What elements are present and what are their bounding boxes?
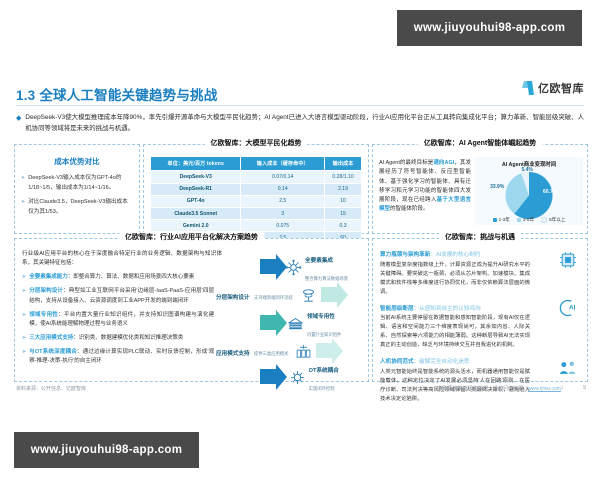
platform-flow-diagram: 全要素集成 整合算力算法数据场景 分层架构设计 支持端到端闭环流程 bbox=[216, 253, 366, 377]
challenge-title-1: 算力瓶颈与架构革新 bbox=[380, 252, 430, 258]
cell-input: 0.14 bbox=[241, 183, 325, 195]
agent-text-end: 的智能体阶段。 bbox=[390, 206, 429, 212]
challenge-heading-2: 智能层级断层：从感知到自主的认知鸿沟 bbox=[380, 304, 580, 312]
brand-logo: 亿欧智库 bbox=[523, 80, 584, 96]
challenge-title-2: 智能层级断层 bbox=[380, 306, 414, 312]
watermark-top: www.jiuyouhui98-app.com bbox=[397, 10, 582, 46]
cost-item-list: ➤ DeepSeek-V3输入成本仅为GPT-4o的1/18~1/5，输出成本为… bbox=[21, 174, 133, 217]
pie-label-1-3y: 60.7% bbox=[543, 189, 557, 195]
cell-output: 15 bbox=[325, 207, 362, 219]
challenge-body-1: 随着模型复杂度指数级上升，计算资源正成为提升AI研究水平的关键障碍。要突破这一瓶… bbox=[380, 261, 530, 297]
people-icon bbox=[558, 358, 578, 378]
table-row: GPT-4o 2.5 10 bbox=[151, 195, 362, 207]
ai-brain-icon: AI bbox=[558, 298, 578, 318]
flow-label-4: 应用模式支持 bbox=[216, 351, 250, 357]
challenge-heading-3: 人机协同范式：破解完全自动化迷思 bbox=[380, 357, 580, 365]
challenge-body-2: 当前AI系统主要停留在数据智能和感知智能阶段，现有AI仅在逻辑、语言和空间能力三… bbox=[380, 314, 530, 350]
cell-output: 2.19 bbox=[325, 183, 362, 195]
gear-network-icon bbox=[285, 259, 302, 276]
table-row: Claude3.5 Sonnet 3 15 bbox=[151, 207, 362, 219]
legend-label: 1-3年 bbox=[499, 217, 510, 223]
page-number: 9 bbox=[583, 385, 586, 391]
cell-input: 2.5 bbox=[241, 195, 325, 207]
arrow-icon: ➤ bbox=[21, 174, 25, 193]
flow-chevron-1 bbox=[260, 254, 281, 280]
cost-comparison-panel: 成本优势对比 ➤ DeepSeek-V3输入成本仅为GPT-4o的1/18~1/… bbox=[14, 144, 140, 234]
column-header-output-cost: 输出成本 bbox=[325, 157, 362, 171]
arrow-icon: ➤ bbox=[22, 348, 26, 367]
flow-label-2: 分层架构设计 bbox=[216, 295, 250, 301]
arrow-icon: ➤ bbox=[22, 334, 26, 343]
table-row: DeepSeek-R1 0.14 2.19 bbox=[151, 183, 362, 195]
footer-note: 获取更多维度报告数据，请访问亿欧网（www.iyiou.com） bbox=[438, 385, 566, 392]
header-divider bbox=[16, 105, 584, 106]
challenges-panel: 亿欧智库：挑战与机遇 算力瓶颈与架构革新：AI发展的核心制约 随着模型复杂度指数… bbox=[372, 238, 588, 382]
ai-agent-description: AI Agent的最终目标是通向AGI，其发展经历了符号智能体、反应型智能体、基… bbox=[373, 156, 475, 228]
ai-agent-caption: 亿欧智库：AI Agent智能体崛起趋势 bbox=[418, 138, 543, 148]
cost-heading: 成本优势对比 bbox=[15, 156, 139, 167]
ai-agent-panel: 亿欧智库：AI Agent智能体崛起趋势 AI Agent的最终目标是通向AGI… bbox=[372, 144, 588, 234]
agent-text-pre: AI Agent的最终目标是 bbox=[379, 160, 433, 166]
flow-chevron-3 bbox=[260, 310, 283, 336]
pie-chart-legend: 1-3年 3-5年 5年以上 bbox=[475, 217, 583, 223]
platform-item-title: 领域专用性 bbox=[29, 312, 58, 318]
legend-item-1-3y: 1-3年 bbox=[493, 217, 510, 223]
flow-label-1: 全要素集成 bbox=[305, 258, 333, 264]
challenge-title-3: 人机协同范式 bbox=[380, 359, 414, 365]
platform-item-desc: ：即整合算力、算法、数据和应用场景四大核心要素 bbox=[68, 274, 195, 280]
apps-icon bbox=[295, 343, 312, 360]
pie-label-5y-plus: 5.4% bbox=[521, 167, 532, 173]
agent-text-highlight-1: 通向AGI bbox=[433, 160, 454, 166]
cell-output: 0.28/1.10 bbox=[325, 171, 362, 183]
pricing-table-caption: 亿欧智库：大模型平民化趋势 bbox=[205, 138, 308, 148]
ot-icon bbox=[289, 369, 306, 386]
cell-output: 0.3 bbox=[325, 220, 362, 232]
brand-logo-label: 亿欧智库 bbox=[538, 80, 584, 96]
platform-item-title: 三大应用模式支持 bbox=[29, 335, 73, 341]
platform-item-desc: ：识别类、数据建模优化类和知识推理决策类 bbox=[73, 335, 183, 341]
cell-output: 10 bbox=[325, 195, 362, 207]
legend-label: 5年以上 bbox=[549, 217, 565, 223]
column-header-unit: 单位：美元/百万 tokens bbox=[151, 157, 241, 171]
cell-input: 0.07/0.14 bbox=[241, 171, 325, 183]
table-row: DeepSeek-V3 0.07/0.14 0.28/1.10 bbox=[151, 171, 362, 183]
yiou-logo-icon bbox=[523, 81, 536, 95]
arrow-icon: ➤ bbox=[22, 287, 26, 306]
platform-item-title: 全要素集成能力 bbox=[29, 274, 68, 280]
footer-source: 资料来源：公开信息、亿欧智库 bbox=[16, 385, 86, 392]
challenge-subtitle-1: ：AI发展的核心制约 bbox=[430, 252, 480, 258]
platform-item-title: 与OT系统深度耦合 bbox=[29, 349, 77, 355]
arrow-icon: ➤ bbox=[22, 273, 26, 282]
slide-content: 1.3 全球人工智能关键趋势与挑战 亿欧智库 ◆ DeepSeek-V3使大模型… bbox=[0, 60, 600, 390]
legend-item-3-5y: 3-5年 bbox=[517, 217, 534, 223]
knowledge-icon bbox=[287, 315, 304, 332]
challenge-heading-1: 算力瓶颈与架构革新：AI发展的核心制约 bbox=[380, 250, 580, 258]
legend-label: 3-5年 bbox=[523, 217, 534, 223]
cell-model: DeepSeek-R1 bbox=[151, 183, 241, 195]
layers-icon bbox=[300, 287, 317, 304]
flow-sublabel-2: 支持端到端闭环流程 bbox=[254, 295, 293, 300]
challenge-subtitle-2: ：从感知到自主的认知鸿沟 bbox=[414, 306, 481, 312]
pie-label-3-5y: 33.9% bbox=[490, 184, 504, 190]
cell-input: 3 bbox=[241, 207, 325, 219]
cell-model: Gemini 2.0 bbox=[151, 220, 241, 232]
list-item: ➤ DeepSeek-V3输入成本仅为GPT-4o的1/18~1/5，输出成本为… bbox=[21, 174, 133, 193]
footer-note-post: ） bbox=[561, 386, 566, 392]
legend-item-5y-plus: 5年以上 bbox=[541, 217, 565, 223]
page-header: 1.3 全球人工智能关键趋势与挑战 bbox=[16, 84, 584, 104]
page-title: 1.3 全球人工智能关键趋势与挑战 bbox=[16, 84, 584, 104]
cell-model: DeepSeek-V3 bbox=[151, 171, 241, 183]
list-item: ➤ 对比Claude3.5，DeepSeek-V3输出成本仅为其1/53。 bbox=[21, 198, 133, 217]
footer-note-pre: 获取更多维度报告数据，请访问亿欧网（ bbox=[438, 386, 528, 392]
flow-sublabel-4: 提供三类应用模式 bbox=[254, 351, 288, 356]
legend-swatch-icon bbox=[541, 217, 547, 223]
bullet-diamond-icon: ◆ bbox=[16, 112, 21, 134]
pie-chart-graphic bbox=[506, 172, 553, 219]
legend-swatch-icon bbox=[517, 218, 521, 222]
watermark-bottom: www.jiuyouhui98-app.com bbox=[14, 432, 199, 468]
column-header-input-cost: 输入成本（缓存命中） bbox=[241, 157, 325, 171]
monetization-pie-chart: AI Agent商业变现时间 60.7% 33.9% 5.4% 1-3年 3-5… bbox=[475, 157, 583, 225]
cell-input: 0.075 bbox=[241, 220, 325, 232]
challenges-panel-caption: 亿欧智库：挑战与机遇 bbox=[439, 232, 521, 242]
platform-panel-caption: 亿欧智库：行业AI应用平台化解决方案趋势 bbox=[119, 232, 264, 242]
table-row: Gemini 2.0 0.075 0.3 bbox=[151, 220, 362, 232]
flow-chevron-5 bbox=[260, 364, 285, 390]
svg-text:AI: AI bbox=[569, 305, 576, 312]
platform-solution-panel: 亿欧智库：行业AI应用平台化解决方案趋势 行业级AI应用平台的核心在于深度融合特… bbox=[14, 238, 369, 382]
cell-model: Claude3.5 Sonnet bbox=[151, 207, 241, 219]
cost-item-text: 对比Claude3.5，DeepSeek-V3输出成本仅为其1/53。 bbox=[28, 198, 133, 217]
flow-sublabel-5: 实现闭环控制 bbox=[309, 386, 335, 391]
chip-icon bbox=[558, 250, 578, 270]
flow-label-5: OT系统耦合 bbox=[309, 368, 339, 374]
challenge-subtitle-3: ：破解完全自动化迷思 bbox=[414, 359, 470, 365]
table-header-row: 单位：美元/百万 tokens 输入成本（缓存命中） 输出成本 bbox=[151, 157, 362, 171]
lead-bullet-row: ◆ DeepSeek-V3使大模型推理成本年降90%，率先引爆开源革命与大模型平… bbox=[16, 112, 584, 134]
legend-swatch-icon bbox=[493, 218, 497, 222]
arrow-icon: ➤ bbox=[22, 311, 26, 330]
platform-lead-text: 行业级AI应用平台的核心在于深度融合特定行业的业务逻辑、数据架构与知识体系，其关… bbox=[22, 250, 222, 269]
arrow-icon: ➤ bbox=[21, 198, 25, 217]
lead-text: DeepSeek-V3使大模型推理成本年降90%，率先引爆开源革命与大模型平民化… bbox=[25, 112, 584, 134]
footer-link[interactable]: www.iyiou.com bbox=[528, 386, 561, 392]
pricing-table-panel: 亿欧智库：大模型平民化趋势 单位：美元/百万 tokens 输入成本（缓存命中）… bbox=[143, 144, 369, 234]
flow-label-3: 领域专用性 bbox=[307, 314, 335, 320]
cell-model: GPT-4o bbox=[151, 195, 241, 207]
platform-item-title: 分层架构设计 bbox=[29, 288, 63, 294]
cost-item-text: DeepSeek-V3输入成本仅为GPT-4o的1/18~1/5，输出成本为1/… bbox=[28, 174, 133, 193]
